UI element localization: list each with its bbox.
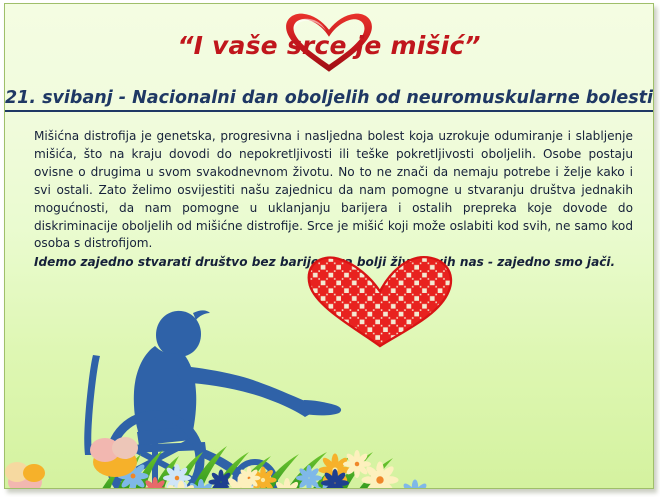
page-title-text: 21. svibanj - Nacionalni dan oboljelih o… [5, 88, 653, 112]
page-title: 21. svibanj - Nacionalni dan oboljelih o… [5, 88, 653, 108]
poster-canvas: “I vašesrceje mišić” 21. svibanj - Nacio… [0, 0, 660, 497]
flower [5, 462, 45, 488]
logo-text-heart-word: srce [278, 31, 356, 60]
body-paragraph: Mišićna distrofija je genetska, progresi… [34, 128, 633, 253]
woven-heart-icon [302, 254, 466, 355]
flower [400, 480, 431, 489]
logo-text-open: “I vaše [177, 31, 278, 60]
flower [296, 465, 322, 488]
illustration [5, 250, 653, 488]
flower [343, 450, 371, 478]
poster-frame: “I vašesrceje mišić” 21. svibanj - Nacio… [4, 3, 654, 489]
flower [90, 437, 138, 477]
logo-text-close: je mišić” [356, 31, 481, 60]
logo-text: “I vašesrceje mišić” [177, 31, 480, 60]
campaign-logo: “I vašesrceje mišić” [5, 12, 653, 78]
